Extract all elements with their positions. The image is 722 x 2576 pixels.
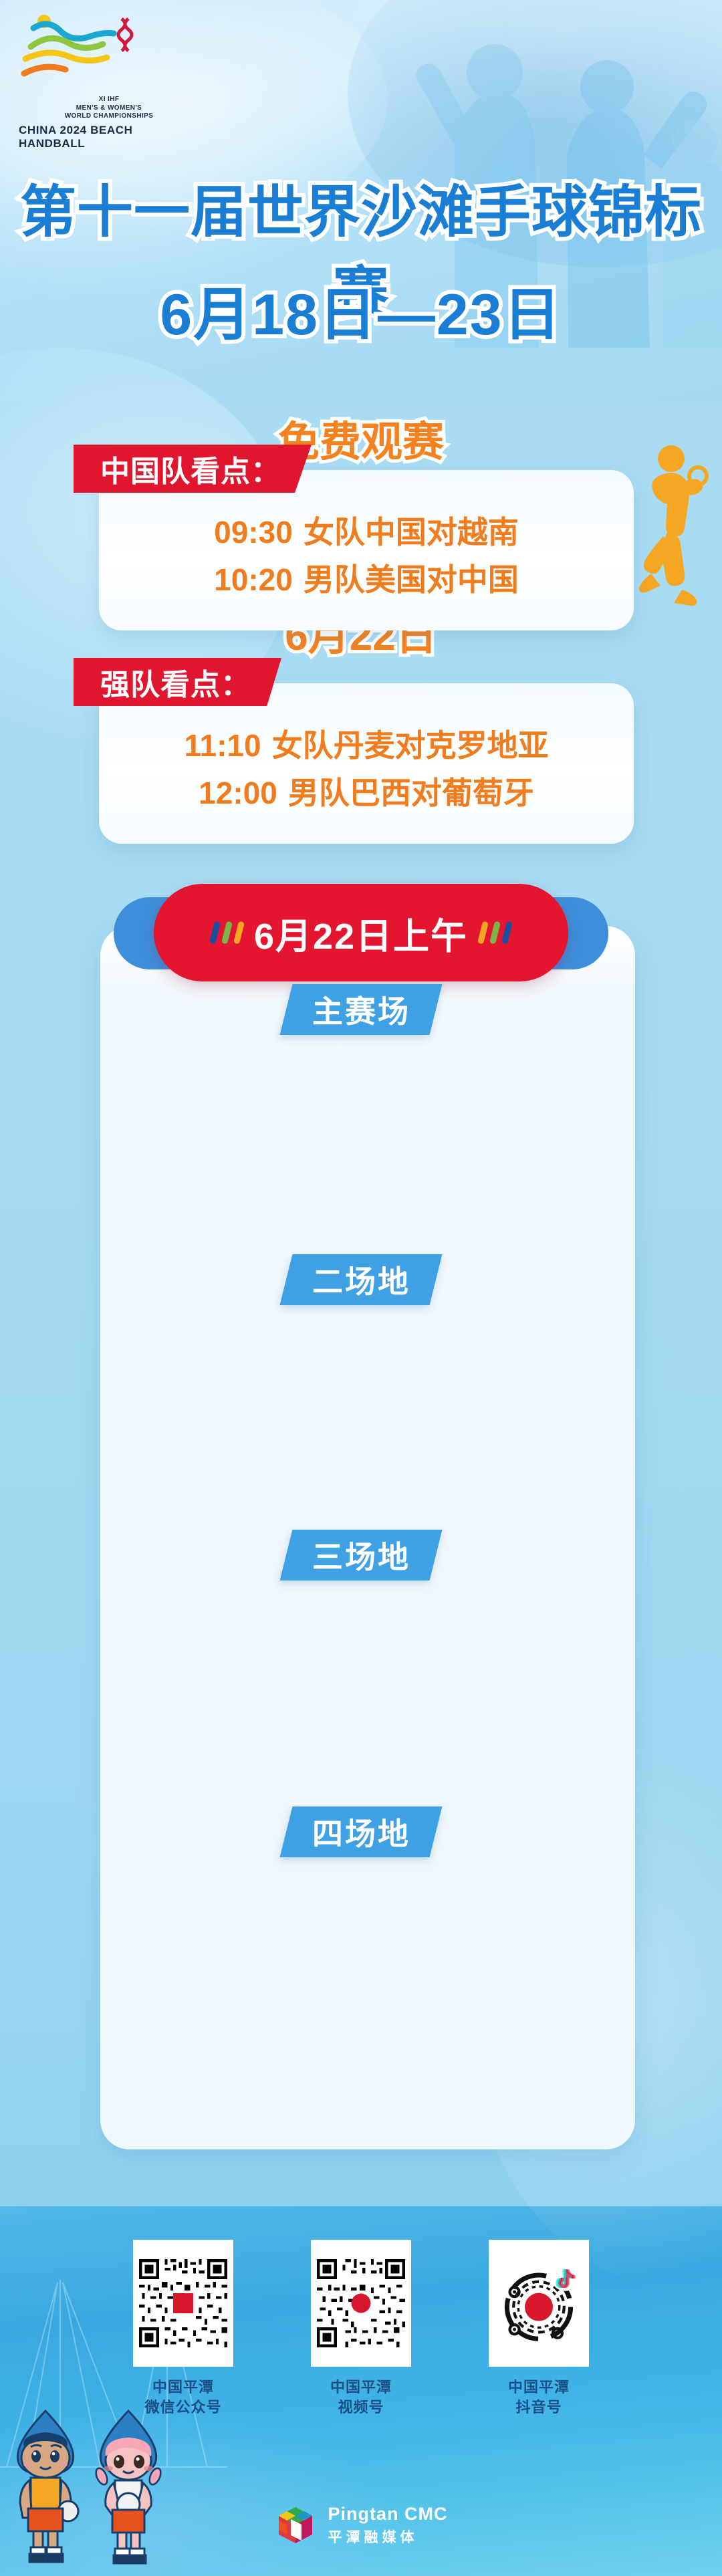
venue-tag-label: 三场地 [312, 1533, 410, 1577]
qr-caption-line1: 中国平潭 [144, 2377, 221, 2397]
qr-caption-line2: 视频号 [330, 2397, 392, 2418]
ihf-line-2: MEN'S & WOMEN'S [19, 104, 199, 113]
highlight-match-list-china: 09:30女队中国对越南 10:20男队美国对中国 [99, 509, 634, 604]
tick-mark [221, 921, 233, 944]
qr-code-icon [136, 2256, 230, 2350]
match-name: 女队中国对越南 [304, 515, 519, 550]
day-banner-ticks-left [212, 921, 242, 944]
douyin-qr-code-icon [492, 2256, 586, 2350]
venue-tag-label: 主赛场 [312, 987, 410, 1032]
highlight-match-row: 11:10女队丹麦对克罗地亚 [99, 722, 634, 770]
qr-item-video[interactable]: 中国平潭 视频号 [297, 2240, 425, 2417]
match-time: 10:20 [214, 562, 293, 597]
match-name: 男队美国对中国 [304, 562, 519, 597]
tick-mark [489, 921, 501, 944]
cmc-name-cn: 平潭融媒体 [328, 2527, 448, 2547]
ihf-line-1: XI IHF [19, 96, 199, 104]
mascot-illustration [4, 2406, 205, 2576]
qr-caption-line2: 抖音号 [508, 2397, 570, 2418]
highlight-match-row: 12:00男队巴西对葡萄牙 [99, 770, 634, 817]
tick-mark [209, 921, 221, 944]
venue-tag-label: 四场地 [312, 1810, 410, 1854]
match-name: 男队巴西对葡萄牙 [288, 776, 534, 810]
qr-code-row: 中国平潭 微信公众号 [0, 2240, 722, 2417]
qr-caption-video: 中国平潭 视频号 [330, 2377, 392, 2417]
venue-tag-4: 四场地 [280, 1806, 443, 1857]
highlight-match-row: 09:30女队中国对越南 [99, 509, 634, 556]
day-banner-label: 6月22日上午 [254, 907, 468, 959]
cmc-logo: Pingtan CMC 平潭融媒体 [0, 2504, 722, 2547]
venue-tag-3: 三场地 [280, 1530, 443, 1580]
venue-tag-label: 二场地 [312, 1258, 410, 1302]
tick-mark [477, 921, 489, 944]
qr-item-douyin[interactable]: 中国平潭 抖音号 [475, 2240, 602, 2417]
day-banner: 6月22日上午 [0, 876, 722, 976]
handball-player-icon [622, 441, 709, 608]
tick-mark [233, 921, 245, 944]
qr-code-douyin[interactable] [489, 2240, 589, 2367]
logo-wordmark: CHINA 2024 BEACH HANDBALL [19, 124, 199, 150]
match-name: 女队丹麦对克罗地亚 [272, 728, 549, 763]
ihf-line-3: WORLD CHAMPIONSHIPS [19, 112, 199, 121]
match-time: 12:00 [199, 776, 277, 810]
highlight-ribbon-strong-teams: 强队看点： [74, 658, 281, 706]
qr-code-icon [314, 2256, 408, 2350]
match-time: 11:10 [184, 728, 261, 763]
venue-tag-2: 二场地 [280, 1254, 443, 1305]
qr-caption-line1: 中国平潭 [330, 2377, 392, 2397]
cmc-text: Pingtan CMC 平潭融媒体 [328, 2504, 448, 2547]
highlight-ribbon-china: 中国队看点： [74, 445, 312, 493]
day-banner-front-plate: 6月22日上午 [154, 884, 568, 981]
qr-code-video[interactable] [311, 2240, 411, 2367]
venue-tag-1: 主赛场 [280, 984, 443, 1035]
rubiks-cube-icon [275, 2504, 316, 2546]
event-logo: XI IHF MEN'S & WOMEN'S WORLD CHAMPIONSHI… [19, 12, 199, 150]
qr-caption-douyin: 中国平潭 抖音号 [508, 2377, 570, 2417]
cmc-name-en: Pingtan CMC [328, 2504, 448, 2525]
qr-item-wechat[interactable]: 中国平潭 微信公众号 [120, 2240, 247, 2417]
day-banner-ticks-right [480, 921, 510, 944]
ihf-championship-lines: XI IHF MEN'S & WOMEN'S WORLD CHAMPIONSHI… [19, 96, 199, 121]
highlight-card-strong-teams: 11:10女队丹麦对克罗地亚 12:00男队巴西对葡萄牙 [99, 683, 634, 844]
qr-caption-line1: 中国平潭 [508, 2377, 570, 2397]
highlight-match-row: 10:20男队美国对中国 [99, 556, 634, 604]
beach-handball-emblem-icon [19, 12, 193, 92]
highlight-card-china: 09:30女队中国对越南 10:20男队美国对中国 [99, 470, 634, 630]
match-time: 09:30 [214, 515, 293, 550]
poster-header: XI IHF MEN'S & WOMEN'S WORLD CHAMPIONSHI… [0, 0, 722, 428]
highlight-match-list-strong-teams: 11:10女队丹麦对克罗地亚 12:00男队巴西对葡萄牙 [99, 722, 634, 818]
qr-code-wechat[interactable] [133, 2240, 233, 2367]
tick-mark [501, 921, 513, 944]
event-dates: 6月18日—23日 [0, 267, 722, 351]
